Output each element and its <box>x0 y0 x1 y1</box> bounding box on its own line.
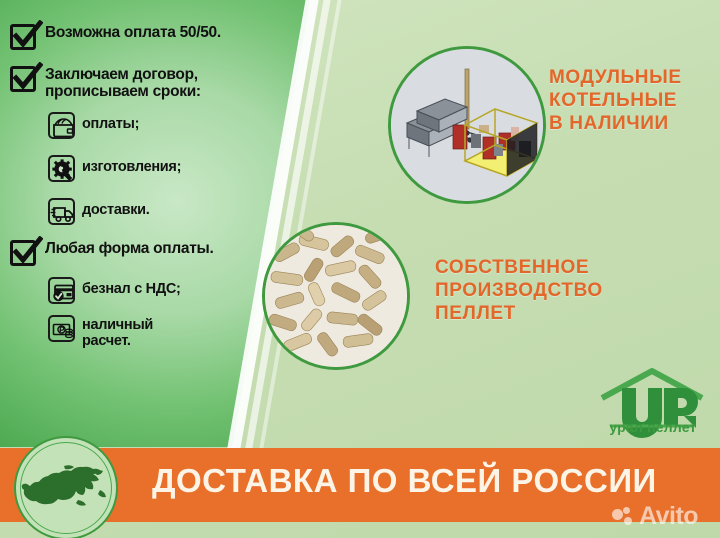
term-item-delivery: доставки. <box>48 198 150 225</box>
payment-label: безнал с НДС; <box>82 282 181 298</box>
wood-pellets-photo <box>262 222 410 370</box>
benefit-label: Возможна оплата 50/50. <box>45 24 221 41</box>
modular-boiler-render <box>388 46 546 204</box>
boilers-heading: МОДУЛЬНЫЕ КОТЕЛЬНЫЕ В НАЛИЧИИ <box>549 66 682 136</box>
term-item-manufacturing: изготовления; <box>48 155 181 182</box>
benefit-label: Любая форма оплаты. <box>45 240 213 257</box>
checkbox-checked-icon <box>10 240 36 266</box>
cash-ruble-icon <box>48 315 75 342</box>
term-label: оплаты; <box>82 117 139 133</box>
gear-wrench-icon <box>48 155 75 182</box>
term-item-payment: оплаты; <box>48 112 139 139</box>
credit-card-check-icon <box>48 277 75 304</box>
delivery-banner-text: ДОСТАВКА ПО ВСЕЙ РОССИИ <box>152 462 657 500</box>
benefit-item-contract: Заключаем договор, прописываем сроки: <box>10 66 201 101</box>
advertisement-banner: Возможна оплата 50/50. Заключаем договор… <box>0 0 720 538</box>
pellets-heading: СОБСТВЕННОЕ ПРОИЗВОДСТВО ПЕЛЛЕТ <box>435 256 603 326</box>
payment-item-cashless: безнал с НДС; <box>48 277 181 304</box>
benefit-item-any-payment: Любая форма оплаты. <box>10 240 213 266</box>
term-label: доставки. <box>82 203 150 219</box>
logo-caption: урал пеллет <box>590 419 716 435</box>
avito-wordmark: Avito <box>639 502 698 531</box>
payment-label: наличный расчет. <box>82 318 153 350</box>
benefit-item-payment-split: Возможна оплата 50/50. <box>10 24 221 50</box>
delivery-truck-icon <box>48 198 75 225</box>
payment-item-cash: наличный расчет. <box>48 315 153 350</box>
avito-watermark: Avito <box>612 502 698 531</box>
wallet-icon <box>48 112 75 139</box>
russia-map-icon <box>14 436 118 538</box>
benefit-label: Заключаем договор, прописываем сроки: <box>45 66 201 101</box>
checkbox-checked-icon <box>10 66 36 92</box>
term-label: изготовления; <box>82 160 181 176</box>
avito-dots-icon <box>612 507 638 527</box>
benefits-list: Возможна оплата 50/50. Заключаем договор… <box>0 0 300 447</box>
checkbox-checked-icon <box>10 24 36 50</box>
